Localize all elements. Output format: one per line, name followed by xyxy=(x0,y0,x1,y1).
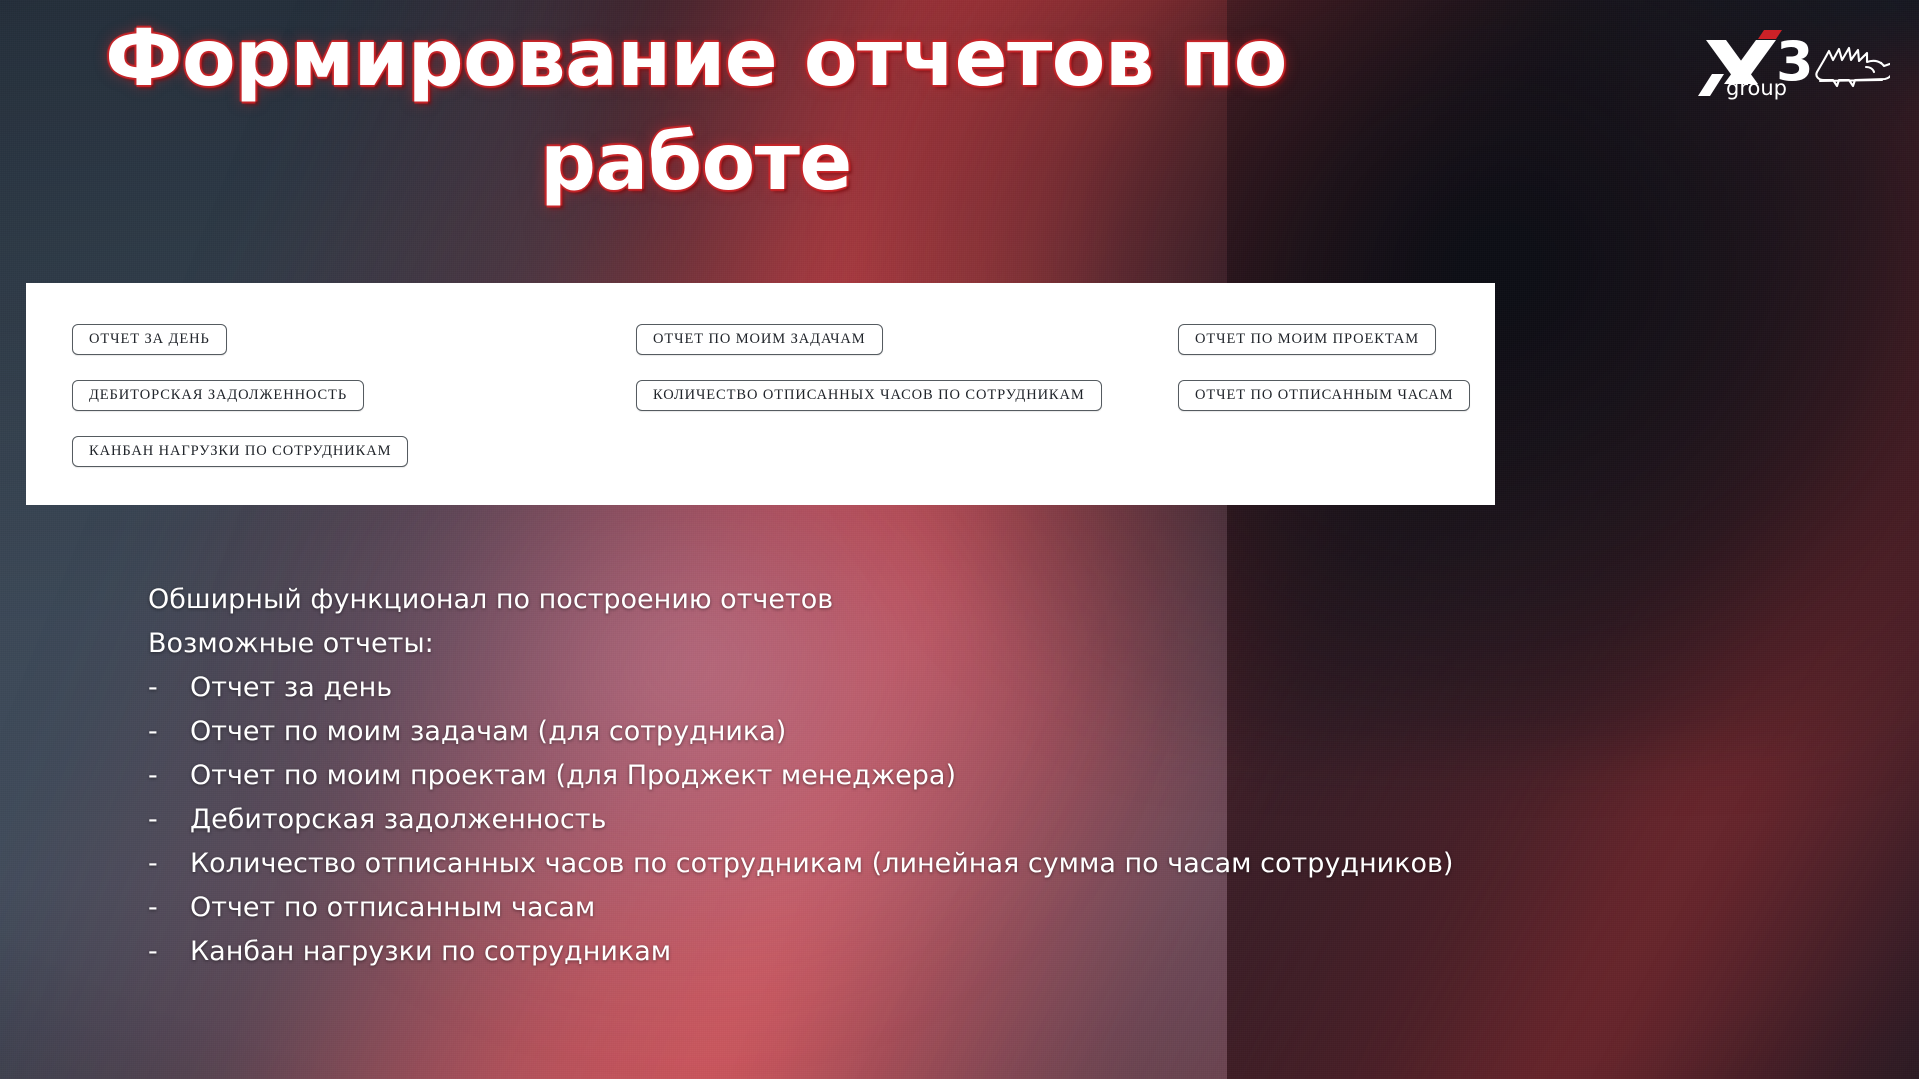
logo-wordmark: group xyxy=(1726,76,1787,100)
report-button-hours-by-employee[interactable]: КОЛИЧЕСТВО ОТПИСАННЫХ ЧАСОВ ПО СОТРУДНИК… xyxy=(636,380,1102,411)
reports-column-3: ОТЧЕТ ПО МОИМ ПРОЕКТАМ ОТЧЕТ ПО ОТПИСАНН… xyxy=(1178,324,1470,411)
report-button-logged-hours[interactable]: ОТЧЕТ ПО ОТПИСАННЫМ ЧАСАМ xyxy=(1178,380,1470,411)
list-item-label: Дебиторская задолженность xyxy=(190,798,606,842)
list-item-label: Отчет по моим проектам (для Проджект мен… xyxy=(190,754,956,798)
list-item: -Дебиторская задолженность xyxy=(148,798,1848,842)
reports-panel: ОТЧЕТ ЗА ДЕНЬ ДЕБИТОРСКАЯ ЗАДОЛЖЕННОСТЬ … xyxy=(26,283,1495,505)
report-button-receivables[interactable]: ДЕБИТОРСКАЯ ЗАДОЛЖЕННОСТЬ xyxy=(72,380,364,411)
list-item-label: Отчет по отписанным часам xyxy=(190,886,595,930)
bullet-marker: - xyxy=(148,930,190,974)
list-item-label: Количество отписанных часов по сотрудник… xyxy=(190,842,1453,886)
bullet-marker: - xyxy=(148,886,190,930)
bullet-marker: - xyxy=(148,842,190,886)
list-item: -Количество отписанных часов по сотрудни… xyxy=(148,842,1848,886)
reports-column-1: ОТЧЕТ ЗА ДЕНЬ ДЕБИТОРСКАЯ ЗАДОЛЖЕННОСТЬ … xyxy=(72,324,408,467)
body-line-1: Обширный функционал по построению отчето… xyxy=(148,578,1848,622)
bullet-marker: - xyxy=(148,710,190,754)
report-button-my-tasks[interactable]: ОТЧЕТ ПО МОИМ ЗАДАЧАМ xyxy=(636,324,883,355)
list-item: -Отчет по отписанным часам xyxy=(148,886,1848,930)
list-item-label: Отчет по моим задачам (для сотрудника) xyxy=(190,710,786,754)
bullet-marker: - xyxy=(148,798,190,842)
report-button-my-projects[interactable]: ОТЧЕТ ПО МОИМ ПРОЕКТАМ xyxy=(1178,324,1436,355)
bullet-marker: - xyxy=(148,666,190,710)
bullet-marker: - xyxy=(148,754,190,798)
body-line-2: Возможные отчеты: xyxy=(148,622,1848,666)
slide-body: Обширный функционал по построению отчето… xyxy=(148,578,1848,974)
x3-group-logo: 3 group xyxy=(1690,22,1890,100)
reports-list: -Отчет за день -Отчет по моим задачам (д… xyxy=(148,666,1848,974)
list-item: -Отчет по моим задачам (для сотрудника) xyxy=(148,710,1848,754)
list-item-label: Канбан нагрузки по сотрудникам xyxy=(190,930,671,974)
reports-column-2: ОТЧЕТ ПО МОИМ ЗАДАЧАМ КОЛИЧЕСТВО ОТПИСАН… xyxy=(636,324,1102,411)
report-button-day[interactable]: ОТЧЕТ ЗА ДЕНЬ xyxy=(72,324,227,355)
report-button-kanban-workload[interactable]: КАНБАН НАГРУЗКИ ПО СОТРУДНИКАМ xyxy=(72,436,408,467)
slide-title: Формирование отчетов по работе xyxy=(0,8,1392,215)
list-item-label: Отчет за день xyxy=(190,666,392,710)
list-item: -Канбан нагрузки по сотрудникам xyxy=(148,930,1848,974)
list-item: -Отчет за день xyxy=(148,666,1848,710)
logo-slash xyxy=(1698,74,1724,96)
list-item: -Отчет по моим проектам (для Проджект ме… xyxy=(148,754,1848,798)
hedgehog-icon xyxy=(1816,48,1890,86)
